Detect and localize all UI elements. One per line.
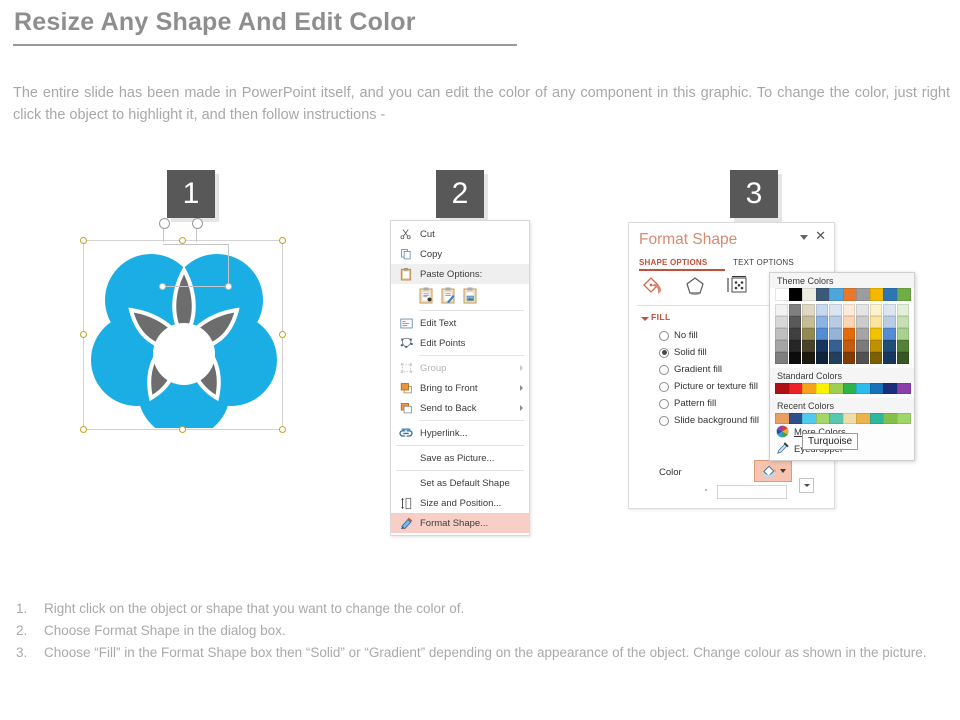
- theme-colors-heading: Theme Colors: [770, 273, 914, 288]
- color-swatch[interactable]: [856, 340, 869, 352]
- color-swatch[interactable]: [856, 316, 869, 328]
- none-icon: [395, 450, 417, 466]
- color-swatch[interactable]: [829, 328, 842, 340]
- radio-solid-fill[interactable]: Solid fill: [659, 344, 759, 361]
- color-swatch[interactable]: [856, 413, 871, 424]
- section-collapse-caret-icon[interactable]: [641, 317, 649, 321]
- radio-label: Slide background fill: [674, 415, 759, 426]
- effects-icon[interactable]: [684, 275, 708, 302]
- color-swatch[interactable]: [789, 328, 802, 340]
- size-properties-icon[interactable]: [725, 275, 751, 302]
- adjust-line-bottom: [163, 286, 229, 287]
- menu-label: Group: [417, 363, 446, 374]
- menu-label: Save as Picture...: [417, 453, 494, 464]
- slide-canvas: Resize Any Shape And Edit Color The enti…: [0, 0, 960, 720]
- menu-label: Hyperlink...: [417, 428, 468, 439]
- radio-gradient-fill[interactable]: Gradient fill: [659, 361, 759, 378]
- chevron-down-icon[interactable]: [800, 235, 808, 240]
- radio-circle-selected[interactable]: [659, 348, 669, 358]
- fill-line-icon[interactable]: [641, 275, 667, 302]
- tab-shape-options[interactable]: SHAPE OPTIONS: [639, 258, 707, 267]
- color-swatch[interactable]: [816, 340, 829, 352]
- standard-colors-heading: Standard Colors: [770, 368, 914, 383]
- fill-section-label: FILL: [651, 312, 671, 322]
- radio-label: Picture or texture fill: [674, 381, 758, 392]
- page-title: Resize Any Shape And Edit Color: [14, 8, 416, 37]
- color-swatch[interactable]: [816, 352, 829, 364]
- tab-text-options[interactable]: TEXT OPTIONS: [733, 258, 794, 267]
- radio-label: Pattern fill: [674, 398, 716, 409]
- group-icon: [395, 360, 417, 376]
- radio-label: No fill: [674, 330, 698, 341]
- intro-paragraph: The entire slide has been made in PowerP…: [13, 82, 950, 126]
- list-number: 2.: [16, 620, 44, 641]
- color-swatch[interactable]: [775, 328, 788, 340]
- color-swatch[interactable]: [829, 316, 842, 328]
- color-swatch[interactable]: [897, 316, 910, 328]
- color-swatch[interactable]: [816, 413, 831, 424]
- hyperlink-icon: [395, 425, 417, 441]
- radio-slide-background-fill[interactable]: Slide background fill: [659, 412, 759, 429]
- radio-circle[interactable]: [659, 331, 669, 341]
- color-swatch[interactable]: [789, 304, 802, 316]
- color-swatch[interactable]: [856, 288, 871, 301]
- menu-item-bring-to-front[interactable]: Bring to Front: [391, 378, 529, 398]
- paste-merge-formatting-icon[interactable]: [441, 287, 456, 305]
- paste-icon: [395, 266, 417, 282]
- adjust-handle-a[interactable]: [159, 283, 166, 290]
- menu-item-paste-options[interactable]: Paste Options:: [391, 264, 529, 284]
- paste-keep-formatting-icon[interactable]: [419, 287, 434, 305]
- color-swatch[interactable]: [883, 316, 896, 328]
- rotation-handle[interactable]: [159, 218, 170, 229]
- adjust-handle-b[interactable]: [225, 283, 232, 290]
- flower-shape-graphic[interactable]: [89, 242, 279, 428]
- color-swatch[interactable]: [802, 304, 815, 316]
- resize-handle-e[interactable]: [279, 331, 286, 338]
- recent-colors-heading: Recent Colors: [770, 398, 914, 413]
- color-swatch[interactable]: [883, 413, 898, 424]
- list-item: 1. Right click on the object or shape th…: [16, 598, 946, 619]
- menu-label: Send to Back: [417, 403, 477, 414]
- theme-variant-row[interactable]: [770, 304, 914, 316]
- context-menu[interactable]: Cut Copy Paste Options:: [390, 220, 530, 536]
- menu-label: Set as Default Shape: [417, 478, 510, 489]
- list-item: 3. Choose “Fill” in the Format Shape box…: [16, 642, 946, 663]
- menu-label: Paste Options:: [417, 269, 482, 280]
- theme-variant-row[interactable]: [770, 328, 914, 340]
- menu-separator: [419, 355, 524, 356]
- menu-item-send-to-back[interactable]: Send to Back: [391, 398, 529, 418]
- transparency-input[interactable]: [717, 485, 787, 499]
- format-shape-icon: [395, 515, 417, 531]
- color-swatch[interactable]: [775, 288, 790, 301]
- color-swatch[interactable]: [816, 288, 831, 301]
- color-swatch[interactable]: [897, 413, 912, 424]
- fill-options-group[interactable]: No fill Solid fill Gradient fill Picture…: [659, 327, 759, 429]
- standard-colors-row[interactable]: [770, 383, 914, 394]
- menu-item-hyperlink[interactable]: Hyperlink...: [391, 423, 529, 443]
- instructions-list: 1. Right click on the object or shape th…: [16, 598, 946, 664]
- chevron-right-icon: [520, 405, 523, 411]
- menu-label: Bring to Front: [417, 383, 478, 394]
- color-swatch[interactable]: [883, 304, 896, 316]
- resize-handle-se[interactable]: [279, 426, 286, 433]
- step-badge-1: 1: [167, 170, 215, 218]
- color-tooltip: Turquoise: [802, 433, 858, 450]
- theme-variant-row[interactable]: [770, 352, 914, 364]
- menu-label: Format Shape...: [417, 518, 488, 529]
- radio-no-fill[interactable]: No fill: [659, 327, 759, 344]
- menu-item-cut[interactable]: Cut: [391, 224, 529, 244]
- theme-variant-row[interactable]: [770, 316, 914, 328]
- color-swatch[interactable]: [775, 316, 788, 328]
- radio-pattern-fill[interactable]: Pattern fill: [659, 395, 759, 412]
- paste-picture-icon[interactable]: [463, 287, 478, 305]
- menu-label: Copy: [417, 249, 442, 260]
- adjust-line-right: [228, 244, 229, 286]
- color-swatch[interactable]: [883, 328, 896, 340]
- format-pane-title: Format Shape: [639, 231, 737, 249]
- color-picker-button[interactable]: [754, 460, 792, 482]
- fill-bucket-icon: [761, 464, 778, 478]
- menu-item-format-shape[interactable]: Format Shape...: [391, 513, 529, 533]
- size-position-icon: [395, 495, 417, 511]
- edit-text-icon: [395, 315, 417, 331]
- color-swatch[interactable]: [816, 316, 829, 328]
- color-swatch[interactable]: [775, 413, 790, 424]
- edit-points-icon: [395, 335, 417, 351]
- color-swatch[interactable]: [843, 352, 856, 364]
- list-number: 3.: [16, 642, 44, 663]
- menu-separator: [419, 420, 524, 421]
- color-swatch[interactable]: [870, 328, 883, 340]
- color-swatch[interactable]: [829, 340, 842, 352]
- menu-item-set-as-default-shape[interactable]: Set as Default Shape: [391, 473, 529, 493]
- color-field-label: Color: [659, 467, 682, 478]
- format-icon-tabs[interactable]: [641, 275, 751, 302]
- step-badge-3: 3: [730, 170, 778, 218]
- resize-handle-n[interactable]: [179, 237, 186, 244]
- menu-separator: [419, 310, 524, 311]
- color-swatch[interactable]: [802, 340, 815, 352]
- list-item: 2. Choose Format Shape in the dialog box…: [16, 620, 946, 641]
- chevron-right-icon: [520, 385, 523, 391]
- color-swatch[interactable]: [856, 328, 869, 340]
- color-swatch[interactable]: [883, 288, 898, 301]
- color-swatch[interactable]: [775, 304, 788, 316]
- rotation-handle-2[interactable]: [192, 218, 203, 229]
- color-swatch[interactable]: [870, 340, 883, 352]
- color-swatch[interactable]: [843, 340, 856, 352]
- theme-colors-variant-rows[interactable]: [770, 304, 914, 364]
- send-back-icon: [395, 400, 417, 416]
- theme-colors-base-row[interactable]: [770, 288, 914, 301]
- color-swatch[interactable]: [789, 352, 802, 364]
- menu-label: Edit Points: [417, 338, 465, 349]
- color-swatch[interactable]: [816, 304, 829, 316]
- color-swatch[interactable]: [843, 413, 858, 424]
- color-swatch[interactable]: [856, 352, 869, 364]
- color-swatch[interactable]: [816, 383, 831, 394]
- color-swatch[interactable]: [829, 352, 842, 364]
- color-swatch[interactable]: [802, 352, 815, 364]
- tab-active-underline: [639, 269, 725, 271]
- color-swatch[interactable]: [802, 316, 815, 328]
- color-swatch[interactable]: [897, 352, 910, 364]
- step-badge-2: 2: [436, 170, 484, 218]
- color-swatch[interactable]: [883, 352, 896, 364]
- resize-handle-sw[interactable]: [80, 426, 87, 433]
- color-swatch[interactable]: [829, 304, 842, 316]
- radio-label: Solid fill: [674, 347, 707, 358]
- color-swatch[interactable]: [829, 288, 844, 301]
- color-swatch[interactable]: [789, 288, 804, 301]
- color-swatch[interactable]: [870, 383, 885, 394]
- color-swatch[interactable]: [802, 413, 817, 424]
- color-swatch[interactable]: [843, 288, 858, 301]
- menu-item-copy[interactable]: Copy: [391, 244, 529, 264]
- bring-front-icon: [395, 380, 417, 396]
- radio-label: Gradient fill: [674, 364, 722, 375]
- eyedropper-icon: [776, 442, 789, 458]
- title-underline: [13, 44, 517, 46]
- color-swatch[interactable]: [883, 383, 898, 394]
- color-swatch[interactable]: [856, 304, 869, 316]
- menu-item-save-as-picture[interactable]: Save as Picture...: [391, 448, 529, 468]
- color-swatch[interactable]: [775, 383, 790, 394]
- close-icon[interactable]: ✕: [815, 229, 826, 242]
- list-text: Choose “Fill” in the Format Shape box th…: [44, 642, 946, 663]
- color-swatch[interactable]: [775, 340, 788, 352]
- menu-item-size-and-position[interactable]: Size and Position...: [391, 493, 529, 513]
- paste-options-row[interactable]: [391, 284, 529, 308]
- radio-circle[interactable]: [659, 382, 669, 392]
- color-wheel-icon: [776, 425, 789, 441]
- menu-label: Size and Position...: [417, 498, 501, 509]
- menu-separator: [396, 470, 524, 471]
- resize-handle-s[interactable]: [179, 426, 186, 433]
- radio-circle[interactable]: [659, 416, 669, 426]
- color-swatch[interactable]: [829, 413, 844, 424]
- theme-variant-row[interactable]: [770, 340, 914, 352]
- menu-label: Cut: [417, 229, 435, 240]
- color-swatch[interactable]: [775, 352, 788, 364]
- color-swatch[interactable]: [870, 304, 883, 316]
- menu-item-edit-points[interactable]: Edit Points: [391, 333, 529, 353]
- color-swatch[interactable]: [802, 288, 817, 301]
- radio-picture-or-texture-fill[interactable]: Picture or texture fill: [659, 378, 759, 395]
- chevron-down-icon[interactable]: [780, 469, 786, 473]
- color-swatch[interactable]: [802, 328, 815, 340]
- color-swatch[interactable]: [789, 383, 804, 394]
- menu-item-group: Group: [391, 358, 529, 378]
- color-swatch[interactable]: [870, 352, 883, 364]
- color-swatch[interactable]: [843, 304, 856, 316]
- color-swatch[interactable]: [843, 328, 856, 340]
- radio-circle[interactable]: [659, 365, 669, 375]
- shape-selection-canvas[interactable]: [83, 240, 283, 430]
- adjust-line-top: [163, 244, 228, 245]
- color-swatch[interactable]: [897, 288, 912, 301]
- menu-item-edit-text[interactable]: Edit Text: [391, 313, 529, 333]
- color-swatch[interactable]: [870, 288, 885, 301]
- resize-handle-nw[interactable]: [80, 237, 87, 244]
- none-icon: [395, 475, 417, 491]
- list-number: 1.: [16, 598, 44, 619]
- transparency-spinner[interactable]: [799, 478, 814, 493]
- copy-icon: [395, 246, 417, 262]
- list-text: Right click on the object or shape that …: [44, 598, 946, 619]
- color-swatch[interactable]: [897, 304, 910, 316]
- color-swatch[interactable]: [870, 413, 885, 424]
- resize-handle-ne[interactable]: [279, 237, 286, 244]
- scissors-icon: [395, 226, 417, 242]
- color-swatch[interactable]: [802, 383, 817, 394]
- color-swatch[interactable]: [843, 383, 858, 394]
- color-swatch[interactable]: [789, 413, 804, 424]
- menu-separator: [396, 445, 524, 446]
- chevron-right-icon: [520, 365, 523, 371]
- color-swatch[interactable]: [897, 383, 912, 394]
- color-swatch[interactable]: [816, 328, 829, 340]
- color-swatch[interactable]: [897, 328, 910, 340]
- menu-label: Edit Text: [417, 318, 456, 329]
- transparency-tick: [705, 489, 707, 491]
- color-swatch[interactable]: [789, 340, 802, 352]
- resize-handle-w[interactable]: [80, 331, 87, 338]
- color-swatch[interactable]: [897, 340, 910, 352]
- radio-circle[interactable]: [659, 399, 669, 409]
- color-swatch[interactable]: [870, 316, 883, 328]
- color-swatch[interactable]: [883, 340, 896, 352]
- color-swatch[interactable]: [856, 383, 871, 394]
- list-text: Choose Format Shape in the dialog box.: [44, 620, 946, 641]
- recent-colors-row[interactable]: [770, 413, 914, 424]
- color-swatch[interactable]: [843, 316, 856, 328]
- color-swatch[interactable]: [829, 383, 844, 394]
- color-swatch[interactable]: [789, 316, 802, 328]
